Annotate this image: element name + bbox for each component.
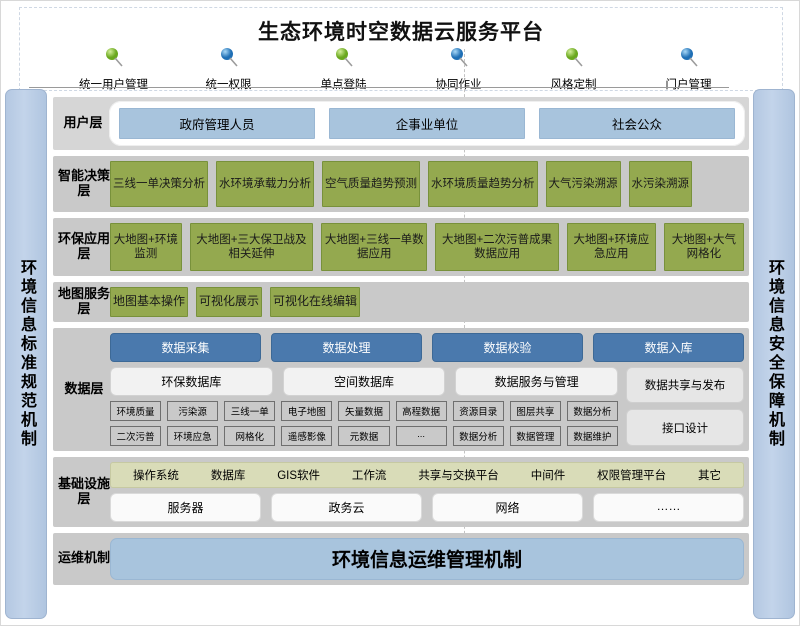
- data-tag[interactable]: 元数据: [338, 426, 389, 446]
- pin-item[interactable]: 协同作业: [409, 46, 509, 93]
- layer-decision-label: 智能决策层: [58, 161, 110, 207]
- infra-item[interactable]: 其它: [698, 467, 721, 483]
- pin-label: 统一权限: [206, 79, 252, 91]
- layer-ops-body: 环境信息运维管理机制: [110, 538, 744, 580]
- pin-label: 统一用户管理: [79, 79, 148, 91]
- infrastructure-software-row: 操作系统 数据库 GIS软件 工作流 共享与交换平台 中间件 权限管理平台 其它: [110, 462, 744, 488]
- decision-item[interactable]: 三线一单决策分析: [110, 161, 208, 207]
- decision-item[interactable]: 大气污染溯源: [546, 161, 621, 207]
- header-divider: [29, 87, 729, 88]
- data-tag[interactable]: 数据分析: [567, 401, 618, 421]
- layer-application-items: 大地图+环境监测 大地图+三大保卫战及相关延伸 大地图+三线一单数据应用 大地图…: [110, 223, 744, 271]
- user-item-public[interactable]: 社会公众: [539, 108, 735, 139]
- layer-user-label: 用户层: [57, 116, 109, 131]
- left-pillar-label: 环境信息标准规范机制: [18, 259, 34, 449]
- layer-map-service-items: 地图基本操作 可视化展示 可视化在线编辑: [110, 287, 744, 317]
- pin-item[interactable]: 门户管理: [639, 46, 739, 93]
- application-item[interactable]: 大地图+三线一单数据应用: [321, 223, 427, 271]
- data-mid-split: 环保数据库 空间数据库 数据服务与管理 环境质量 污染源 三线一单 电子地图 矢…: [110, 367, 744, 446]
- pin-item[interactable]: 统一用户管理: [64, 46, 164, 93]
- data-tag[interactable]: 污染源: [167, 401, 218, 421]
- pin-marker-icon: [524, 46, 624, 73]
- user-panel: 政府管理人员 企事业单位 社会公众: [109, 101, 745, 146]
- map-service-item[interactable]: 可视化展示: [196, 287, 262, 317]
- pin-marker-icon: [64, 46, 164, 73]
- data-tag[interactable]: 环境质量: [110, 401, 161, 421]
- layer-application-label: 环保应用层: [58, 223, 110, 271]
- layer-user: 用户层 政府管理人员 企事业单位 社会公众: [53, 97, 749, 150]
- data-tag[interactable]: 电子地图: [281, 401, 332, 421]
- pin-label: 风格定制: [551, 79, 597, 91]
- data-tag-ellipsis[interactable]: ...: [396, 426, 447, 446]
- right-pillar-security: 环境信息安全保障机制: [753, 89, 795, 619]
- user-item-government[interactable]: 政府管理人员: [119, 108, 315, 139]
- page-title: 生态环境时空数据云服务平台: [20, 16, 782, 46]
- data-tag[interactable]: 图层共享: [510, 401, 561, 421]
- layer-data-label: 数据层: [58, 333, 110, 446]
- infra-item[interactable]: 中间件: [531, 467, 566, 483]
- layer-map-service-label: 地图服务层: [58, 287, 110, 317]
- infrastructure-hardware-row: 服务器 政务云 网络 ……: [110, 493, 744, 522]
- map-service-item[interactable]: 可视化在线编辑: [270, 287, 360, 317]
- data-side-column: 数据共享与发布 接口设计: [626, 367, 744, 446]
- decision-item[interactable]: 水环境承载力分析: [216, 161, 314, 207]
- layer-decision-items: 三线一单决策分析 水环境承载力分析 空气质量趋势预测 水环境质量趋势分析 大气污…: [110, 161, 744, 207]
- ops-banner[interactable]: 环境信息运维管理机制: [110, 538, 744, 580]
- layer-data-body: 数据采集 数据处理 数据校验 数据入库 环保数据库 空间数据库 数据服务与管理 …: [110, 333, 744, 446]
- data-tag[interactable]: 高程数据: [396, 401, 447, 421]
- application-item[interactable]: 大地图+三大保卫战及相关延伸: [190, 223, 314, 271]
- data-tag[interactable]: 二次污普: [110, 426, 161, 446]
- infra-server[interactable]: 服务器: [110, 493, 261, 522]
- infra-item[interactable]: 共享与交换平台: [418, 467, 499, 483]
- data-process-store[interactable]: 数据入库: [593, 333, 744, 362]
- decision-item[interactable]: 空气质量趋势预测: [322, 161, 420, 207]
- application-item[interactable]: 大地图+环境应急应用: [567, 223, 656, 271]
- application-item[interactable]: 大地图+大气网格化: [664, 223, 744, 271]
- layer-map-service: 地图服务层 地图基本操作 可视化展示 可视化在线编辑: [53, 282, 749, 322]
- pin-marker-icon: [639, 46, 739, 73]
- layer-stack: 用户层 政府管理人员 企事业单位 社会公众 智能决策层 三线一单决策分析 水环境…: [53, 97, 749, 585]
- application-item[interactable]: 大地图+二次污普成果数据应用: [435, 223, 559, 271]
- data-tag-row-2: 二次污普 环境应急 网格化 遥感影像 元数据 ... 数据分析 数据管理 数据维…: [110, 426, 618, 446]
- platform-header: 生态环境时空数据云服务平台 统一用户管理 统一权限 单点登陆: [19, 7, 783, 91]
- layer-application: 环保应用层 大地图+环境监测 大地图+三大保卫战及相关延伸 大地图+三线一单数据…: [53, 218, 749, 276]
- pin-label: 单点登陆: [321, 79, 367, 91]
- data-tag[interactable]: 数据分析: [453, 426, 504, 446]
- user-item-enterprise[interactable]: 企事业单位: [329, 108, 525, 139]
- right-pillar-label: 环境信息安全保障机制: [766, 259, 782, 449]
- pin-row: 统一用户管理 统一权限 单点登陆 协同作业: [20, 46, 782, 93]
- layer-infrastructure-body: 操作系统 数据库 GIS软件 工作流 共享与交换平台 中间件 权限管理平台 其它…: [110, 462, 744, 522]
- pin-item[interactable]: 单点登陆: [294, 46, 394, 93]
- application-item[interactable]: 大地图+环境监测: [110, 223, 182, 271]
- data-db-env[interactable]: 环保数据库: [110, 367, 273, 396]
- data-tag[interactable]: 矢量数据: [338, 401, 389, 421]
- pin-label: 协同作业: [436, 79, 482, 91]
- layer-data: 数据层 数据采集 数据处理 数据校验 数据入库 环保数据库 空间数据库 数据服务…: [53, 328, 749, 451]
- data-db-and-tags: 环保数据库 空间数据库 数据服务与管理 环境质量 污染源 三线一单 电子地图 矢…: [110, 367, 618, 446]
- layer-decision: 智能决策层 三线一单决策分析 水环境承载力分析 空气质量趋势预测 水环境质量趋势…: [53, 156, 749, 212]
- infra-item[interactable]: 数据库: [211, 467, 246, 483]
- pin-item[interactable]: 统一权限: [179, 46, 279, 93]
- data-process-handle[interactable]: 数据处理: [271, 333, 422, 362]
- infra-item[interactable]: GIS软件: [277, 467, 320, 483]
- infra-item[interactable]: 工作流: [352, 467, 387, 483]
- data-tag[interactable]: 数据维护: [567, 426, 618, 446]
- left-pillar-standards: 环境信息标准规范机制: [5, 89, 47, 619]
- data-db-service[interactable]: 数据服务与管理: [455, 367, 618, 396]
- data-db-spatial[interactable]: 空间数据库: [283, 367, 446, 396]
- data-tag[interactable]: 遥感影像: [281, 426, 332, 446]
- data-tag[interactable]: 资源目录: [453, 401, 504, 421]
- infra-item[interactable]: 权限管理平台: [597, 467, 666, 483]
- data-process-collect[interactable]: 数据采集: [110, 333, 261, 362]
- data-tag[interactable]: 网格化: [224, 426, 275, 446]
- map-service-item[interactable]: 地图基本操作: [110, 287, 188, 317]
- data-tag[interactable]: 数据管理: [510, 426, 561, 446]
- decision-item[interactable]: 水污染溯源: [629, 161, 693, 207]
- data-process-verify[interactable]: 数据校验: [432, 333, 583, 362]
- layer-ops-label: 运维机制: [58, 538, 110, 580]
- pin-marker-icon: [409, 46, 509, 73]
- data-tag[interactable]: 三线一单: [224, 401, 275, 421]
- layer-ops: 运维机制 环境信息运维管理机制: [53, 533, 749, 585]
- data-share-publish[interactable]: 数据共享与发布: [626, 367, 744, 404]
- decision-item[interactable]: 水环境质量趋势分析: [428, 161, 538, 207]
- diagram-root: 生态环境时空数据云服务平台 统一用户管理 统一权限 单点登陆: [0, 0, 800, 626]
- infra-item[interactable]: 操作系统: [133, 467, 179, 483]
- data-tag-row-1: 环境质量 污染源 三线一单 电子地图 矢量数据 高程数据 资源目录 图层共享 数…: [110, 401, 618, 421]
- data-process-row: 数据采集 数据处理 数据校验 数据入库: [110, 333, 744, 362]
- layer-infrastructure-label: 基础设施层: [58, 462, 110, 522]
- pin-marker-icon: [179, 46, 279, 73]
- layer-infrastructure: 基础设施层 操作系统 数据库 GIS软件 工作流 共享与交换平台 中间件 权限管…: [53, 457, 749, 527]
- pin-item[interactable]: 风格定制: [524, 46, 624, 93]
- pin-marker-icon: [294, 46, 394, 73]
- pin-label: 门户管理: [666, 79, 712, 91]
- data-interface-design[interactable]: 接口设计: [626, 409, 744, 446]
- infra-ellipsis[interactable]: ……: [593, 493, 744, 522]
- infra-network[interactable]: 网络: [432, 493, 583, 522]
- data-tag[interactable]: 环境应急: [167, 426, 218, 446]
- infra-gov-cloud[interactable]: 政务云: [271, 493, 422, 522]
- data-db-row: 环保数据库 空间数据库 数据服务与管理: [110, 367, 618, 396]
